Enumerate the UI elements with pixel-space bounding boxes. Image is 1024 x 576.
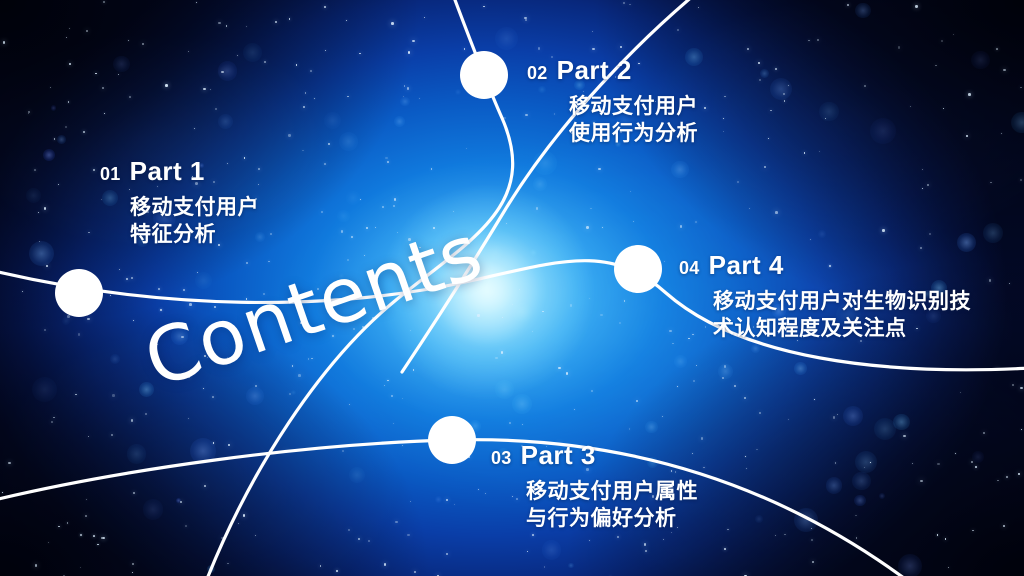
part-1-title: Part 1 xyxy=(130,156,205,187)
part-4-number: 04 xyxy=(679,258,700,279)
node-part-4 xyxy=(614,245,662,293)
node-part-1 xyxy=(55,269,103,317)
part-2-description: 移动支付用户 使用行为分析 xyxy=(527,93,698,148)
part-1-number: 01 xyxy=(100,164,121,185)
part-item-2[interactable]: 02 Part 2 移动支付用户 使用行为分析 xyxy=(527,55,698,148)
contents-slide: 01 Part 1 移动支付用户 特征分析 02 Part 2 移动支付用户 使… xyxy=(0,0,1024,576)
part-3-description: 移动支付用户属性 与行为偏好分析 xyxy=(491,478,698,533)
node-part-2 xyxy=(460,51,508,99)
part-item-4[interactable]: 04 Part 4 移动支付用户对生物识别技术认知程度及关注点 xyxy=(679,250,988,343)
part-4-title: Part 4 xyxy=(709,250,784,281)
part-2-heading: 02 Part 2 xyxy=(527,55,698,86)
part-1-description: 移动支付用户 特征分析 xyxy=(100,194,259,249)
part-item-1[interactable]: 01 Part 1 移动支付用户 特征分析 xyxy=(100,156,259,249)
part-3-heading: 03 Part 3 xyxy=(491,440,698,471)
part-4-description: 移动支付用户对生物识别技术认知程度及关注点 xyxy=(679,288,988,343)
part-item-3[interactable]: 03 Part 3 移动支付用户属性 与行为偏好分析 xyxy=(491,440,698,533)
node-part-3 xyxy=(428,416,476,464)
part-2-title: Part 2 xyxy=(557,55,632,86)
part-3-number: 03 xyxy=(491,448,512,469)
part-1-heading: 01 Part 1 xyxy=(100,156,259,187)
part-2-number: 02 xyxy=(527,63,548,84)
part-4-heading: 04 Part 4 xyxy=(679,250,988,281)
part-3-title: Part 3 xyxy=(521,440,596,471)
